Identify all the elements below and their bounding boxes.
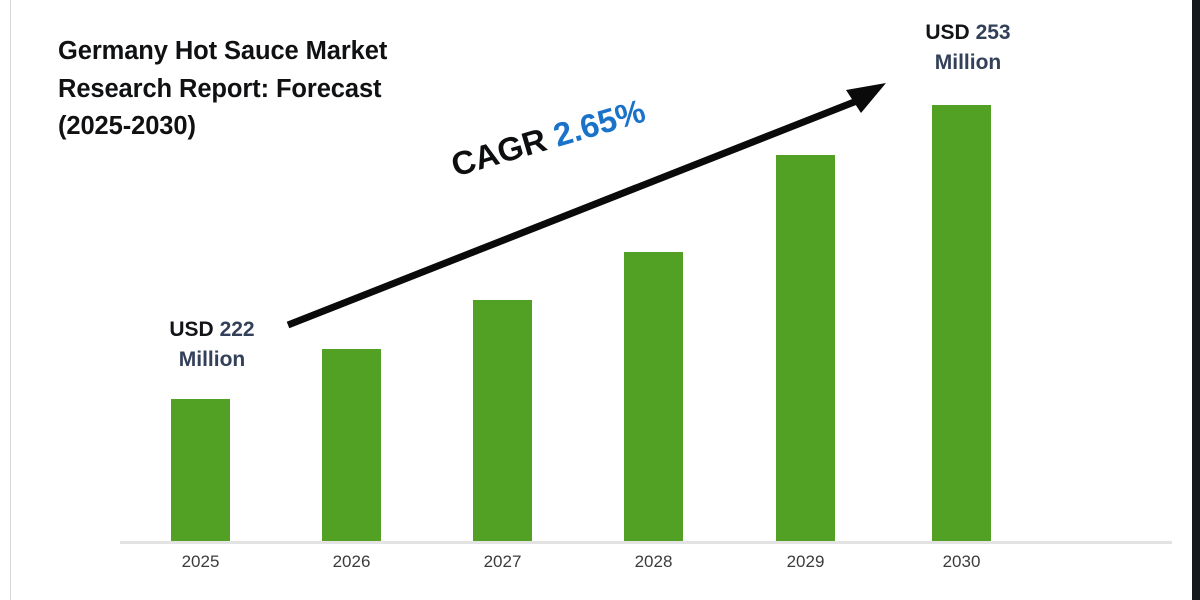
callout-end-number: 253 — [976, 21, 1011, 44]
x-axis-line — [120, 541, 1172, 544]
x-tick-2027: 2027 — [448, 552, 558, 572]
x-tick-2026: 2026 — [297, 552, 407, 572]
bar-2027 — [473, 300, 532, 541]
x-tick-2025: 2025 — [146, 552, 256, 572]
bar-2026 — [322, 349, 381, 541]
callout-end-currency: USD — [925, 21, 969, 44]
x-tick-2030: 2030 — [907, 552, 1017, 572]
x-tick-2029: 2029 — [751, 552, 861, 572]
x-tick-2028: 2028 — [599, 552, 709, 572]
bar-2028 — [624, 252, 683, 541]
chart-figure: Germany Hot Sauce Market Research Report… — [0, 0, 1200, 600]
plot-area — [120, 60, 1020, 541]
bar-2030 — [932, 105, 991, 541]
x-axis-tick-labels: 202520262027202820292030 — [120, 552, 1020, 586]
canvas-left-border — [10, 0, 11, 600]
canvas-right-border — [1192, 0, 1200, 600]
callout-end-line1: USD 253 — [898, 18, 1038, 48]
bar-2025 — [171, 399, 230, 541]
bar-2029 — [776, 155, 835, 541]
